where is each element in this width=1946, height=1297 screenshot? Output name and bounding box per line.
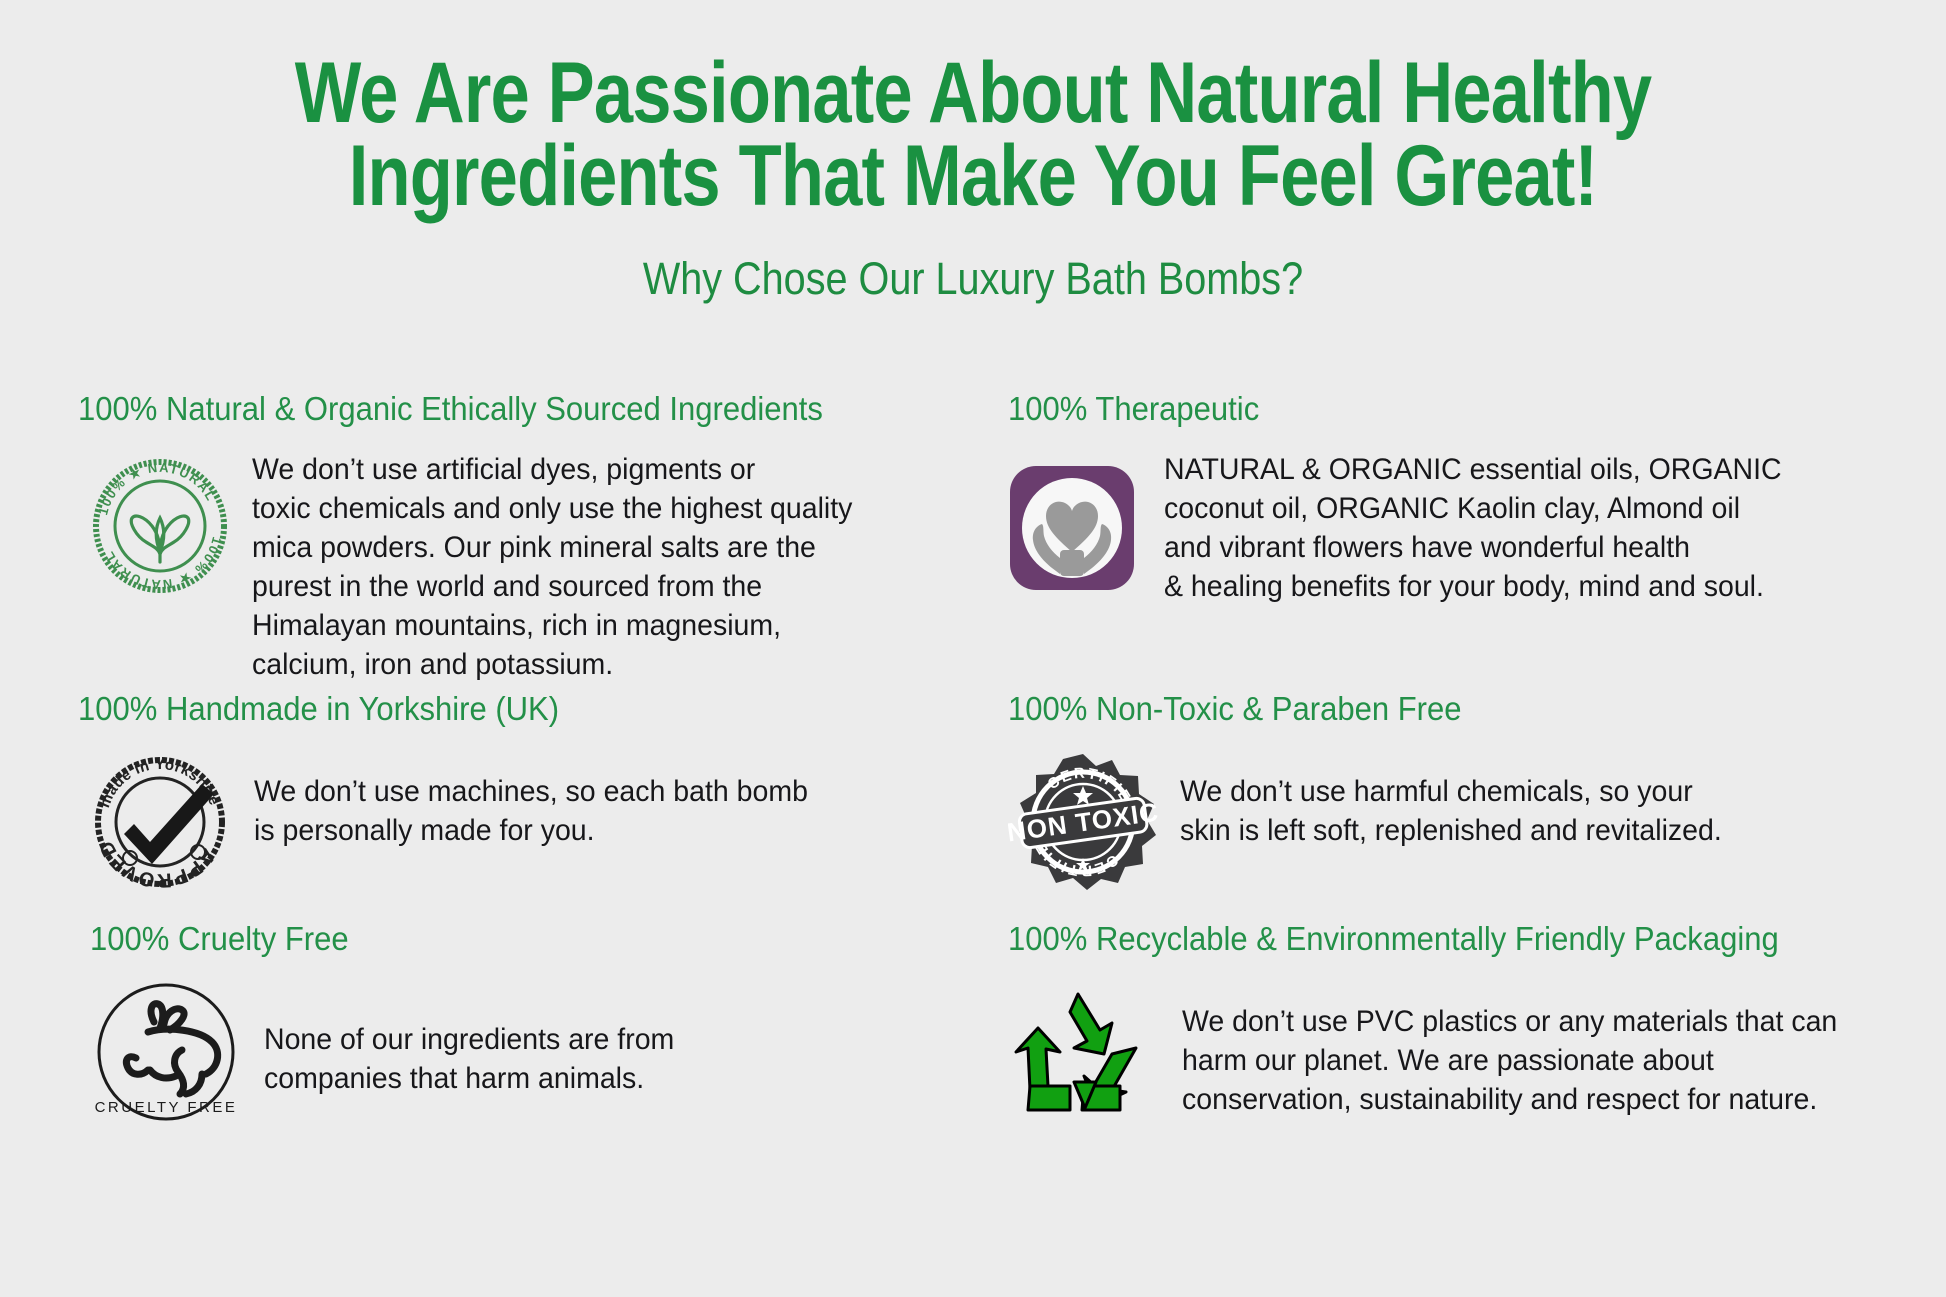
section-body-natural-organic: 100% ★ NATURAL 100% ★ NATURAL [90, 450, 990, 684]
section-therapeutic: 100% Therapeutic NATURAL & ORGANIC essen… [990, 390, 1946, 690]
section-title-recyclable-packaging: 100% Recyclable & Environmentally Friend… [1008, 920, 1890, 958]
section-body-cruelty-free: CRUELTY FREE None of our ingredients are… [90, 980, 990, 1130]
section-text-therapeutic: NATURAL & ORGANIC essential oils, ORGANI… [1164, 450, 1782, 606]
section-body-recyclable-packaging: We don’t use PVC plastics or any materia… [1008, 980, 1946, 1119]
section-text-recyclable-packaging: We don’t use PVC plastics or any materia… [1182, 980, 1837, 1119]
section-title-handmade-yorkshire: 100% Handmade in Yorkshire (UK) [78, 690, 935, 728]
page-headline: We Are Passionate About Natural Healthy … [175, 0, 1771, 219]
made-in-yorkshire-approved-stamp-icon: made in Yorkshire APPROVED [90, 750, 236, 890]
section-text-natural-organic: We don’t use artificial dyes, pigments o… [252, 450, 852, 684]
certified-non-toxic-seal-icon: · CERTIFIED · · CERTIFIED · NON TOXIC [1008, 750, 1158, 896]
benefits-row: 100% Handmade in Yorkshire (UK) made [0, 690, 1946, 920]
section-cruelty-free: 100% Cruelty Free [0, 920, 990, 1170]
section-body-therapeutic: NATURAL & ORGANIC essential oils, ORGANI… [1008, 450, 1946, 606]
section-text-cruelty-free: None of our ingredients are from compani… [264, 980, 674, 1098]
benefits-row: 100% Cruelty Free [0, 920, 1946, 1170]
cruelty-free-label: CRUELTY FREE [95, 1099, 238, 1116]
benefits-row: 100% Natural & Organic Ethically Sourced… [0, 390, 1946, 690]
section-body-handmade-yorkshire: made in Yorkshire APPROVED [90, 750, 990, 890]
section-text-non-toxic: We don’t use harmful chemicals, so your … [1180, 750, 1722, 850]
hands-heart-icon [1008, 450, 1136, 592]
recycling-symbol-icon [1008, 980, 1148, 1116]
infographic-page: We Are Passionate About Natural Healthy … [0, 0, 1946, 1297]
section-recyclable-packaging: 100% Recyclable & Environmentally Friend… [990, 920, 1946, 1170]
page-subtitle: Why Chose Our Luxury Bath Bombs? [117, 253, 1829, 305]
section-title-therapeutic: 100% Therapeutic [1008, 390, 1890, 428]
benefits-grid: 100% Natural & Organic Ethically Sourced… [0, 390, 1946, 1170]
section-title-natural-organic: 100% Natural & Organic Ethically Sourced… [78, 390, 935, 428]
section-handmade-yorkshire: 100% Handmade in Yorkshire (UK) made [0, 690, 990, 920]
section-title-cruelty-free: 100% Cruelty Free [90, 920, 936, 958]
section-natural-organic: 100% Natural & Organic Ethically Sourced… [0, 390, 990, 690]
section-text-handmade-yorkshire: We don’t use machines, so each bath bomb… [254, 750, 808, 850]
section-body-non-toxic: · CERTIFIED · · CERTIFIED · NON TOXIC [1008, 750, 1946, 896]
natural-100-stamp-icon: 100% ★ NATURAL 100% ★ NATURAL [90, 450, 230, 596]
section-title-non-toxic: 100% Non-Toxic & Paraben Free [1008, 690, 1890, 728]
cruelty-free-rabbit-icon: CRUELTY FREE [90, 980, 242, 1130]
section-non-toxic: 100% Non-Toxic & Paraben Free · CERTIFIE… [990, 690, 1946, 920]
